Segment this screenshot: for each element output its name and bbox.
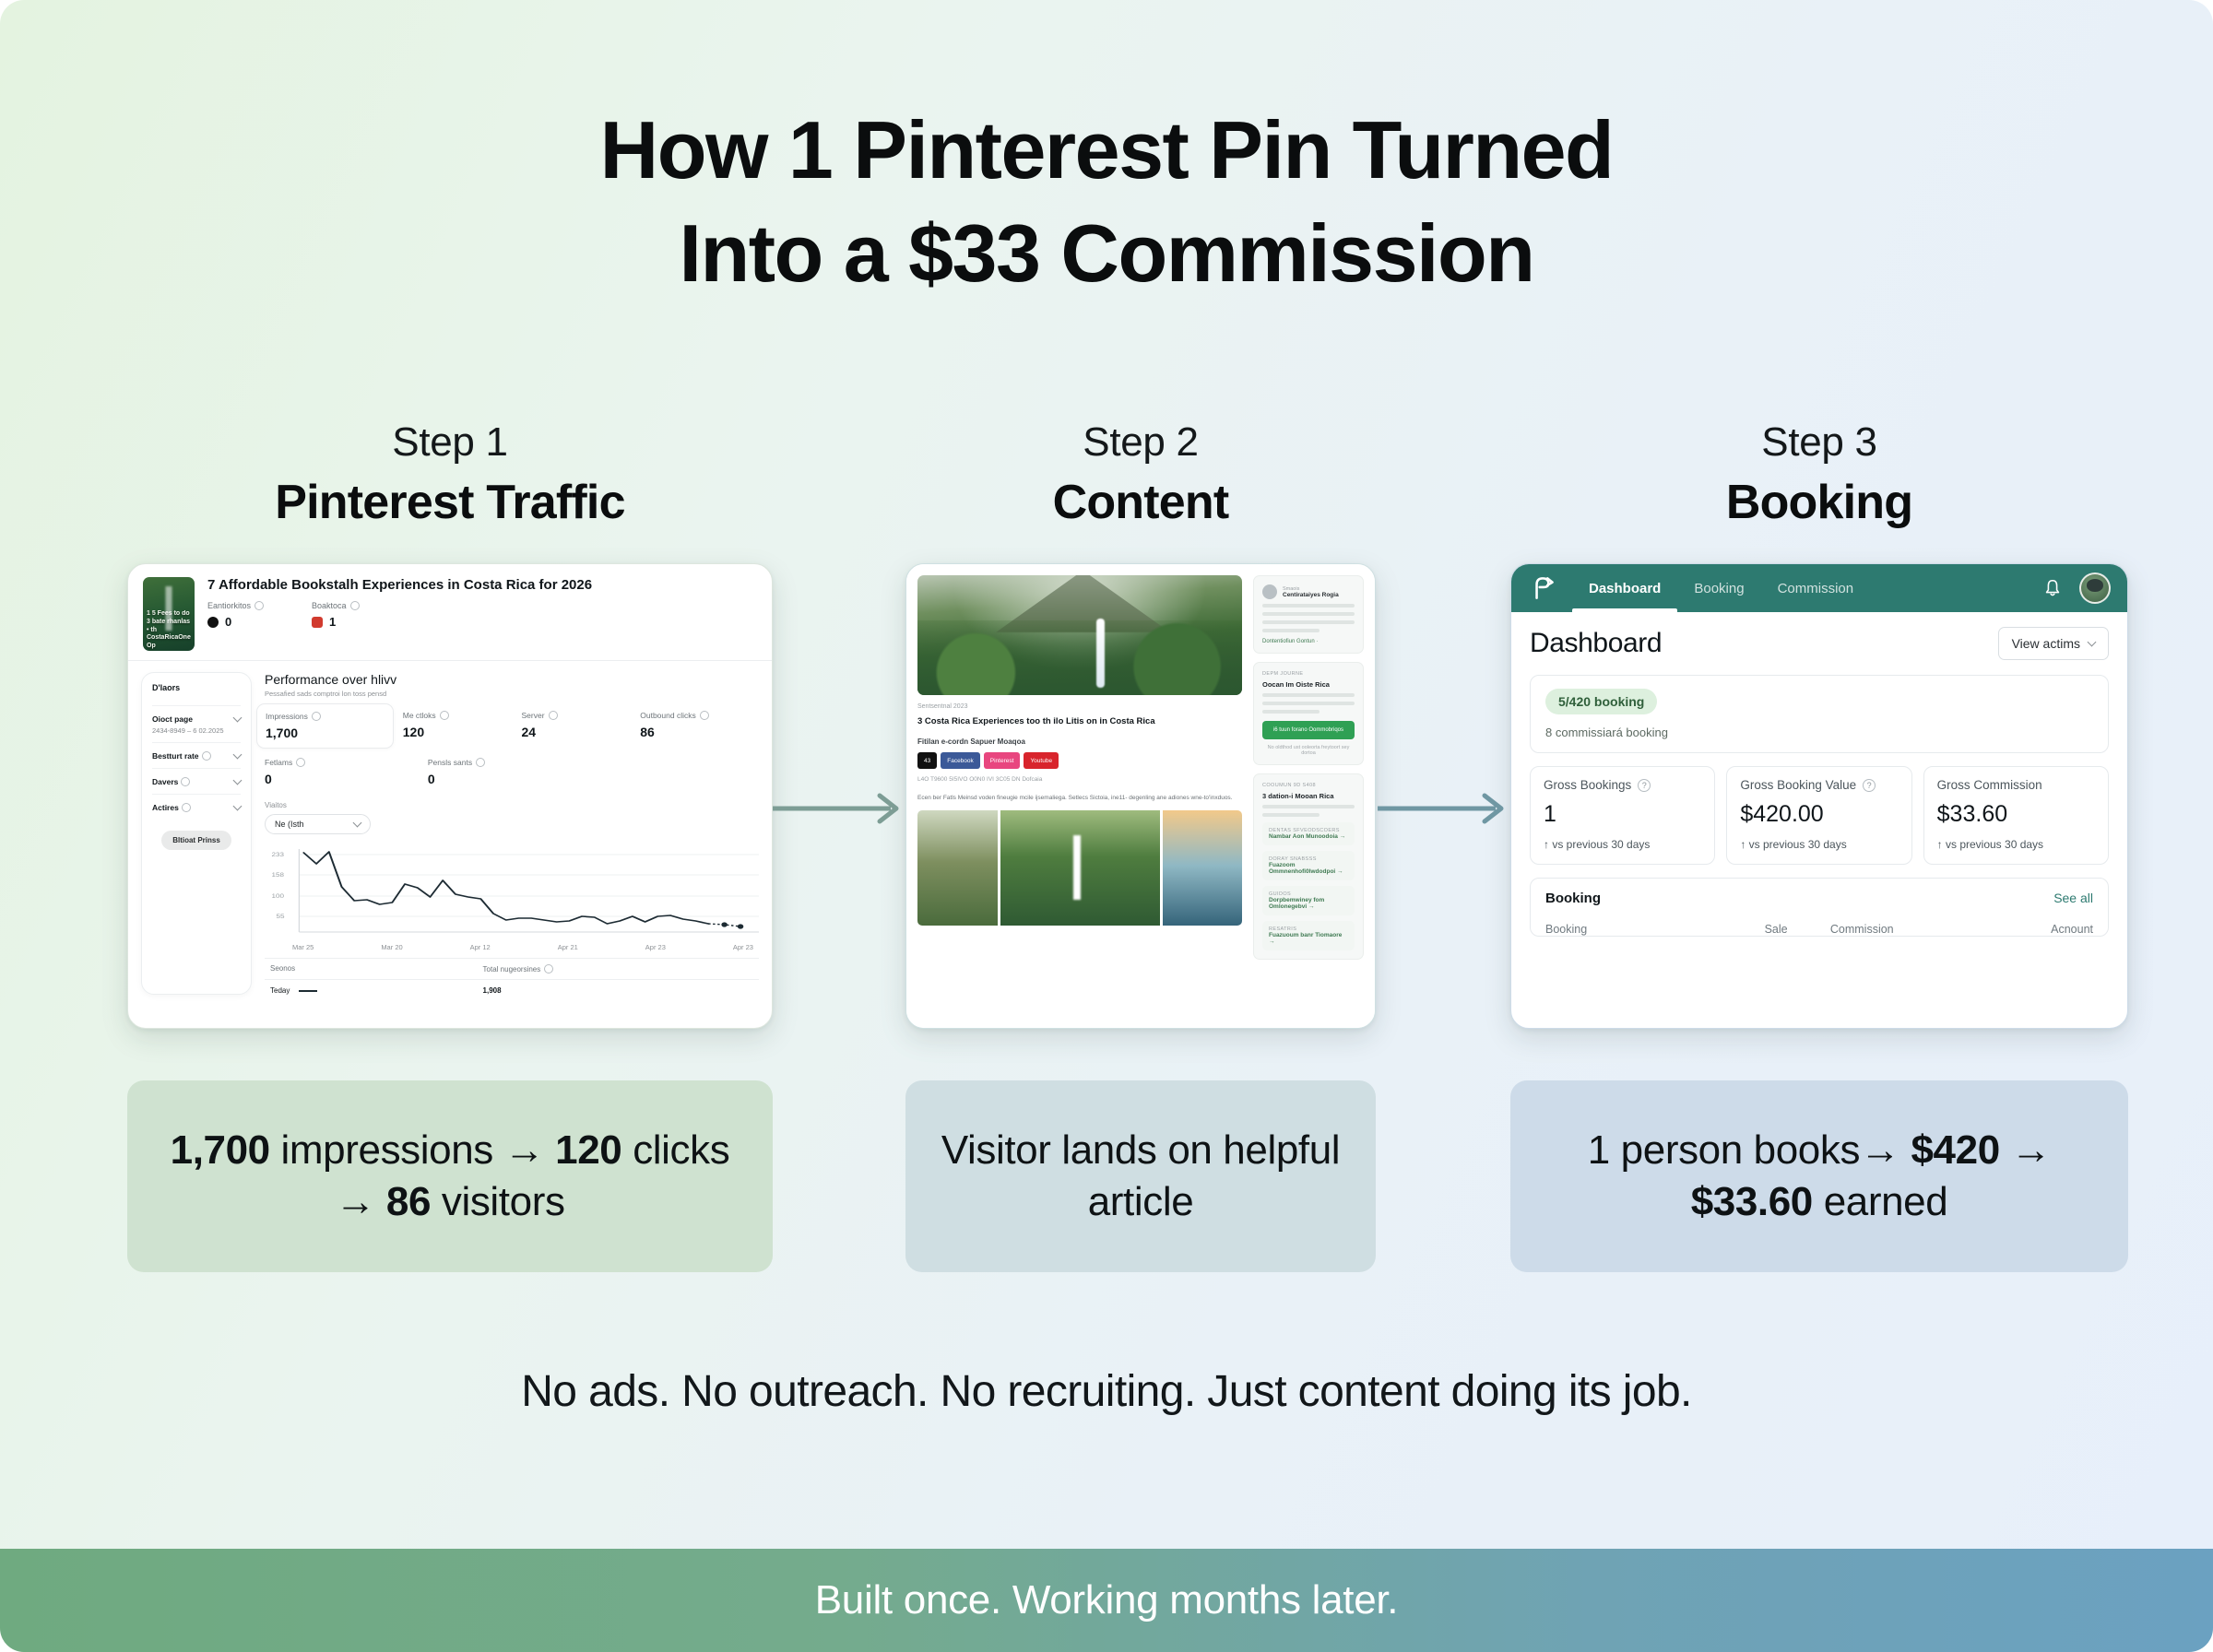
metric-3-value: 24	[522, 725, 641, 739]
author-name: Centirataiyes Rogia	[1283, 592, 1339, 598]
chevron-down-icon	[233, 802, 243, 811]
metric-6-label: Pensls sants	[428, 758, 472, 767]
chart-x-axis: Mar 25 Mar 20 Apr 12 Apr 21 Apr 23 Apr 2…	[265, 940, 759, 951]
legend-row-label: Teday	[270, 986, 290, 995]
chevron-down-icon	[233, 750, 243, 760]
caption-step-2: Visitor lands on helpful article	[905, 1080, 1376, 1272]
help-icon[interactable]	[549, 711, 558, 720]
metrics-row-1: Impressions 1,700 Me ctloks 120	[265, 711, 759, 741]
arrow-icon	[773, 804, 902, 813]
performance-subheading: Pessafied sads comptroi lon toss pensd	[265, 690, 759, 698]
filter-2-label: Bestturt rate	[152, 751, 199, 761]
chart-point	[721, 922, 727, 926]
column-booking: Booking	[1545, 923, 1765, 936]
metric-6-value: 0	[428, 772, 591, 786]
caption-1-part-5: 86	[386, 1179, 431, 1224]
apply-filters-button[interactable]: Bltioat Prinss	[161, 831, 231, 850]
caption-2-text: Visitor lands on helpful article	[929, 1125, 1352, 1229]
metric-follows[interactable]: Fetlams 0	[265, 758, 428, 786]
pin-stat-2-value: 1	[329, 615, 336, 629]
page-title: How 1 Pinterest Pin Turned Into a $33 Co…	[0, 109, 2213, 295]
metric-1-label: Impressions	[266, 712, 308, 721]
pin-stat-1-label: Eantiorkitos	[207, 601, 251, 610]
pin-stat-2-label: Boaktoca	[312, 601, 347, 610]
performance-line-chart: 233 158 100 55	[265, 844, 759, 940]
kpi-3-delta: ↑ vs previous 30 days	[1937, 838, 2095, 851]
pinterest-analytics-screenshot: 1 5 Fees to do 3 bate rhanlas • th Costa…	[127, 563, 773, 1029]
filter-3-label: Davers	[152, 777, 178, 786]
text-placeholder	[1262, 620, 1355, 624]
kpi-1-delta: ↑ vs previous 30 days	[1544, 838, 1701, 851]
arrow-step1-to-step2	[773, 804, 902, 813]
red-save-icon	[312, 617, 323, 628]
column-account: Acnount	[1994, 923, 2093, 936]
text-placeholder	[1262, 805, 1355, 808]
pinterest-share-button[interactable]: Pinterest	[984, 752, 1021, 769]
tab-booking[interactable]: Booking	[1677, 564, 1760, 612]
booking-table-header: Booking Sale Commission Acnount	[1545, 923, 2093, 936]
chart-select-value: Ne (Isth	[275, 820, 304, 829]
list-item[interactable]: GUIDOS Dorpbemwiney fom Omlonegebvi →	[1262, 886, 1355, 915]
legend-row-value: 1,908	[483, 986, 502, 995]
gallery-image-beach	[1163, 810, 1243, 926]
list-item[interactable]: RESATRIS Fuazuoum banr Tiomaore →	[1262, 921, 1355, 950]
metric-4-label: Outbound clicks	[640, 711, 695, 720]
infographic-canvas: How 1 Pinterest Pin Turned Into a $33 Co…	[0, 0, 2213, 1652]
booking-table-heading: Booking	[1545, 891, 1601, 906]
help-icon[interactable]	[296, 758, 305, 767]
gallery-image-volcano	[917, 810, 998, 926]
caption-3-part-2: $420	[1911, 1127, 1999, 1173]
dashboard-body: Dashboard View actims 5/420 booking 8 co…	[1511, 612, 2127, 951]
waterfall-shape	[1096, 619, 1105, 688]
xtick-2: Apr 12	[470, 943, 491, 951]
performance-heading: Performance over hlivv	[265, 672, 759, 687]
article-paragraph: Ecen ber Fatls Meinsd voden fineugie mci…	[917, 794, 1242, 803]
chevron-down-icon	[233, 714, 243, 723]
pin-body: D'laors Oioct page 2434-8949 – 6 02.2025	[128, 661, 772, 995]
filter-row-actions[interactable]: Actires	[152, 794, 241, 820]
text-placeholder	[1262, 710, 1320, 714]
list-item[interactable]: DENTAS SFVEODSCOERS Nambar Aon Munoodoia…	[1262, 822, 1355, 845]
promo-fine-print: No oldthod ust ooleorta freytoort sey do…	[1262, 745, 1355, 756]
footer-band: Built once. Working months later.	[0, 1549, 2213, 1652]
step-column-3: Step 3 Booking Dashboard Booking Commiss…	[1510, 419, 2128, 1029]
list-item-title: Nambar Aon Munoodoia →	[1269, 833, 1348, 840]
booking-status-banner: 5/420 booking 8 commissiará booking	[1530, 675, 2109, 753]
pin-title: 7 Affordable Bookstalh Experiences in Co…	[207, 577, 757, 593]
metric-saves[interactable]: Server 24	[522, 711, 641, 741]
metrics-row-2: Fetlams 0 Pensls sants 0	[265, 758, 759, 786]
kpi-row: Gross Bookings ? 1 ↑ vs previous 30 days…	[1530, 766, 2109, 865]
kpi-1-value: 1	[1544, 801, 1701, 828]
article-subheading: Fitilan e-cordn Sapuer Moaqoa	[917, 737, 1242, 746]
title-line-2: Into a $33 Commission	[0, 212, 2213, 295]
chart-select-label: Viaitos	[265, 801, 759, 809]
status-badge: 5/420 booking	[1545, 689, 1657, 714]
article-layout: Sentsentnal 2023 3 Costa Rica Experience…	[906, 564, 1375, 1028]
metric-impressions[interactable]: Impressions 1,700	[256, 703, 394, 749]
metric-2-value: 120	[403, 725, 522, 739]
filters-heading: D'laors	[152, 683, 241, 692]
related-card: Cooumun 9d S408 3 dation-i Mooan Rica DE…	[1253, 773, 1364, 960]
list-item-title: Fuazoom Ommnenhofi0lwdodpoi →	[1269, 862, 1348, 875]
article-sidebar: Smaois Centirataiyes Rogia Dontentiofiun…	[1253, 575, 1364, 1017]
article-main: Sentsentnal 2023 3 Costa Rica Experience…	[917, 575, 1242, 1017]
performance-main: Performance over hlivv Pessafied sads co…	[265, 672, 759, 995]
help-icon[interactable]: ?	[1863, 779, 1876, 792]
xtick-1: Mar 20	[381, 943, 402, 951]
pin-thumbnail: 1 5 Fees to do 3 bate rhanlas • th Costa…	[143, 577, 195, 651]
legend-line-icon	[299, 990, 317, 992]
see-all-link[interactable]: See all	[2053, 891, 2093, 905]
arrow-step2-to-step3	[1378, 804, 1507, 813]
legend-col-a: Seonos	[270, 964, 483, 973]
related-heading: 3 dation-i Mooan Rica	[1262, 792, 1355, 800]
pin-stats: Eantiorkitos 0 Boaktoca	[207, 601, 757, 629]
help-icon[interactable]	[440, 711, 449, 720]
help-icon[interactable]	[254, 601, 264, 610]
step-column-2: Step 2 Content Sentsentnal 2023 3 Costa …	[905, 419, 1376, 1029]
promo-card: Depm Journe Oocan Im Oiste Rica i6 tuun …	[1253, 662, 1364, 765]
dashboard-header-row: Dashboard View actims	[1530, 627, 2109, 660]
metric-4-value: 86	[640, 725, 759, 739]
filter-row-devices[interactable]: Davers	[152, 768, 241, 794]
column-sale: Sale	[1765, 923, 1830, 936]
author-card: Smaois Centirataiyes Rogia Dontentiofiun…	[1253, 575, 1364, 654]
step-3-kicker: Step 3	[1510, 419, 2128, 466]
chevron-down-icon	[2088, 638, 2097, 647]
legend-row: Teday 1,908	[265, 979, 759, 995]
metric-5-value: 0	[265, 772, 428, 786]
pin-stat-impressions: Eantiorkitos 0	[207, 601, 264, 629]
filters-sidebar: D'laors Oioct page 2434-8949 – 6 02.2025	[141, 672, 252, 995]
help-icon[interactable]	[544, 964, 553, 973]
facebook-share-button[interactable]: Facebook	[941, 752, 980, 769]
caption-3-part-5: earned	[1813, 1179, 1947, 1224]
step-1-title: Pinterest Traffic	[127, 475, 773, 530]
caption-step-1: 1,700 impressions → 120 clicks → 86 visi…	[127, 1080, 773, 1272]
step-1-kicker: Step 1	[127, 419, 773, 466]
metric-3-label: Server	[522, 711, 545, 720]
kpi-2-value: $420.00	[1740, 801, 1898, 828]
article-note: L4O T9600 5I5IVO O0N0 IVI 3C05 DN Dofcai…	[917, 776, 1242, 783]
step-2-title: Content	[905, 475, 1376, 530]
help-icon[interactable]	[181, 777, 190, 786]
help-icon[interactable]	[700, 711, 709, 720]
tab-commission[interactable]: Commission	[1761, 564, 1871, 612]
article-heading: 3 Costa Rica Experiences too th ilo Liti…	[917, 716, 1242, 726]
pin-thumbnail-text: 1 5 Fees to do 3 bate rhanlas • th Costa…	[147, 610, 191, 651]
xtick-0: Mar 25	[292, 943, 314, 951]
caption-3-part-3: →	[2000, 1127, 2051, 1173]
caption-1-part-6: visitors	[431, 1179, 565, 1224]
kpi-3-value: $33.60	[1937, 801, 2095, 828]
kpi-gross-commission: Gross Commission $33.60 ↑ vs previous 30…	[1923, 766, 2109, 865]
xtick-4: Apr 23	[645, 943, 666, 951]
list-item[interactable]: DORAY SNABSSS Fuazoom Ommnenhofi0lwdodpo…	[1262, 851, 1355, 880]
metric-5-label: Fetlams	[265, 758, 292, 767]
metric-outbound-clicks[interactable]: Outbound clicks 86	[640, 711, 759, 741]
list-item-title: Fuazuoum banr Tiomaore →	[1269, 932, 1348, 945]
page-title: Dashboard	[1530, 628, 1662, 659]
author-link[interactable]: Dontentiofiun Gontun ·	[1262, 639, 1355, 644]
filter-1-sub: 2434-8949 – 6 02.2025	[152, 726, 241, 735]
metric-2-label: Me ctloks	[403, 711, 436, 720]
step-3-title: Booking	[1510, 475, 2128, 530]
footer-text: Built once. Working months later.	[815, 1577, 1398, 1623]
promo-kicker: Depm Journe	[1262, 671, 1355, 677]
gallery-image-waterfall	[1000, 810, 1160, 926]
svg-text:158: 158	[271, 871, 283, 879]
step-2-kicker: Step 2	[905, 419, 1376, 466]
article-gallery	[917, 810, 1242, 926]
column-commission: Commission	[1830, 923, 1994, 936]
xtick-5: Apr 23	[733, 943, 753, 951]
view-actions-label: View actims	[2012, 636, 2080, 651]
share-buttons: 43 Facebook Pinterest Youtube	[917, 752, 1242, 769]
svg-text:55: 55	[276, 913, 284, 920]
list-item-title: Dorpbemwiney fom Omlonegebvi →	[1269, 897, 1348, 910]
kpi-2-label: Gross Booking Value	[1740, 778, 1856, 792]
notification-bell-icon[interactable]	[2042, 578, 2063, 598]
youtube-share-button[interactable]: Youtube	[1024, 752, 1059, 769]
kpi-gross-bookings: Gross Bookings ? 1 ↑ vs previous 30 days	[1530, 766, 1715, 865]
tagline: No ads. No outreach. No recruiting. Just…	[0, 1366, 2213, 1417]
help-icon[interactable]	[350, 601, 360, 610]
x-share-button[interactable]: 43	[917, 752, 937, 769]
text-placeholder	[1262, 612, 1355, 616]
help-icon[interactable]	[312, 712, 321, 721]
kpi-gross-booking-value: Gross Booking Value ? $420.00 ↑ vs previ…	[1726, 766, 1911, 865]
caption-step-3: 1 person books→ $420 → $33.60 earned	[1510, 1080, 2128, 1272]
promo-cta-button[interactable]: i6 tuun forano Oommobriqos	[1262, 721, 1355, 739]
filter-row-rate[interactable]: Bestturt rate	[152, 742, 241, 768]
banner-subtext: 8 commissiará booking	[1545, 726, 2093, 739]
svg-text:233: 233	[271, 851, 283, 858]
kpi-3-label: Gross Commission	[1937, 778, 2042, 792]
article-kicker: Sentsentnal 2023	[917, 703, 1242, 710]
line-chart-svg: 233 158 100 55	[265, 844, 759, 940]
caption-3-part-4: $33.60	[1691, 1179, 1813, 1224]
pin-stat-1-value: 0	[225, 615, 231, 629]
step-column-1: Step 1 Pinterest Traffic 1 5 Fees to do …	[127, 419, 773, 1029]
kpi-1-label: Gross Bookings	[1544, 778, 1631, 792]
tab-dashboard[interactable]: Dashboard	[1572, 564, 1677, 612]
caption-1-part-3: 120	[555, 1127, 621, 1173]
dashboard-navbar: Dashboard Booking Commission	[1511, 564, 2127, 612]
caption-1-part-2: impressions →	[270, 1127, 555, 1173]
article-hero-image	[917, 575, 1242, 695]
booking-table-card: Booking See all Booking Sale Commission …	[1530, 878, 2109, 937]
chevron-down-icon	[233, 776, 243, 785]
avatar	[1262, 584, 1277, 599]
metric-clicks[interactable]: Me ctloks 120	[403, 711, 522, 741]
text-placeholder	[1262, 813, 1320, 817]
help-icon[interactable]: ?	[1638, 779, 1651, 792]
chart-series-line	[303, 852, 708, 924]
black-circle-icon	[207, 617, 219, 628]
related-kicker: Cooumun 9d S408	[1262, 783, 1355, 788]
view-actions-button[interactable]: View actims	[1998, 627, 2109, 660]
article-screenshot: Sentsentnal 2023 3 Costa Rica Experience…	[905, 563, 1376, 1029]
pin-stat-saves: Boaktoca 1	[312, 601, 360, 629]
jungle-canopy	[917, 620, 1242, 695]
help-icon[interactable]	[202, 751, 211, 761]
booking-dashboard-screenshot: Dashboard Booking Commission Dashboard V…	[1510, 563, 2128, 1029]
legend-col-b: Total nugeorsines	[483, 965, 541, 973]
kpi-2-delta: ↑ vs previous 30 days	[1740, 838, 1898, 851]
text-placeholder	[1262, 693, 1355, 697]
pin-header: 1 5 Fees to do 3 bate rhanlas • th Costa…	[128, 564, 772, 661]
caption-3-part-1: 1 person books→	[1588, 1127, 1911, 1173]
help-icon[interactable]	[182, 803, 191, 812]
arrow-icon	[1378, 804, 1507, 813]
xtick-3: Apr 21	[558, 943, 578, 951]
svg-text:100: 100	[271, 892, 283, 900]
text-placeholder	[1262, 702, 1355, 705]
filter-4-label: Actires	[152, 803, 179, 812]
metric-pin-saves[interactable]: Pensls sants 0	[428, 758, 591, 786]
chart-point	[738, 924, 743, 928]
pin-meta: 7 Affordable Bookstalh Experiences in Co…	[207, 577, 757, 651]
metric-1-value: 1,700	[266, 726, 385, 740]
caption-1-part-1: 1,700	[171, 1127, 270, 1173]
title-line-1: How 1 Pinterest Pin Turned	[600, 104, 1614, 195]
brand-logo-icon[interactable]	[1528, 572, 1559, 604]
chart-metric-select[interactable]: Ne (Isth	[265, 814, 371, 834]
text-placeholder	[1262, 604, 1355, 608]
text-placeholder	[1262, 629, 1320, 632]
filter-1-label: Oioct page	[152, 714, 193, 724]
chevron-down-icon	[353, 819, 362, 828]
promo-heading: Oocan Im Oiste Rica	[1262, 680, 1355, 689]
chart-legend: Seonos Total nugeorsines Teday	[265, 958, 759, 995]
user-avatar[interactable]	[2079, 572, 2111, 604]
help-icon[interactable]	[476, 758, 485, 767]
filter-row-date[interactable]: Oioct page 2434-8949 – 6 02.2025	[152, 705, 241, 742]
